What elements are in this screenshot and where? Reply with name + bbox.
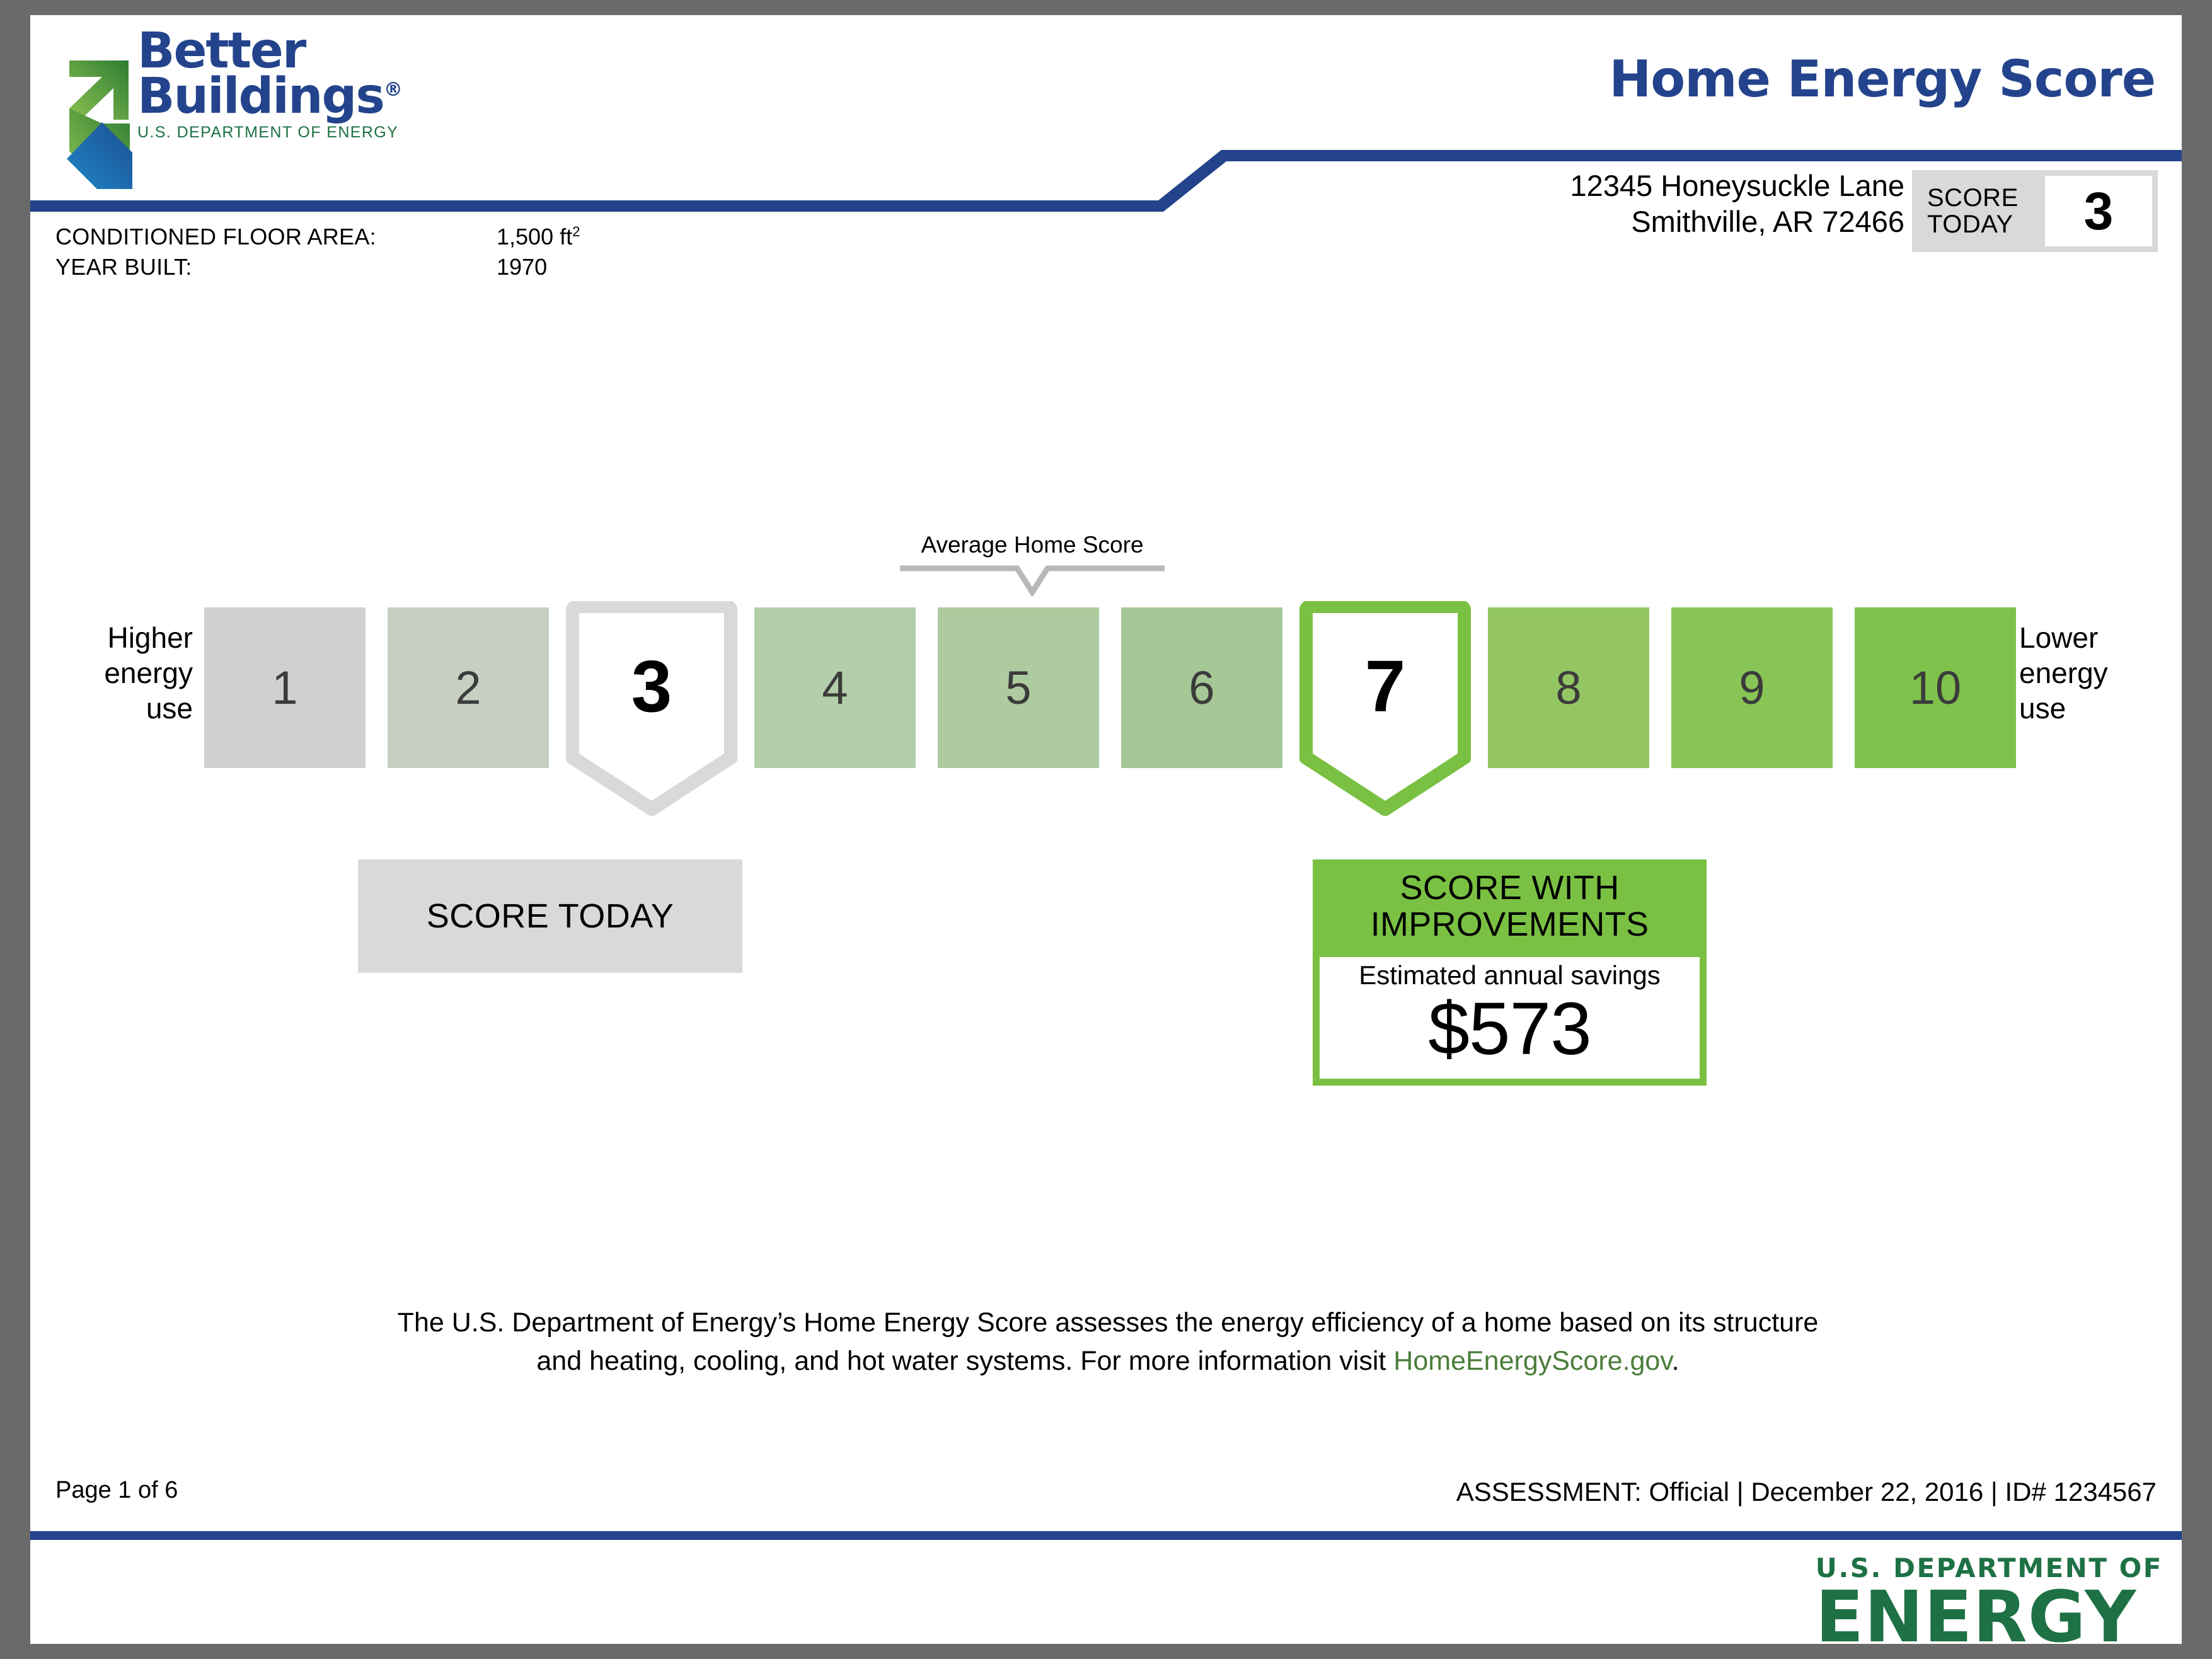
- score-with-improvements-callout: SCORE WITH IMPROVEMENTS Estimated annual…: [1313, 859, 1707, 1086]
- registered-trademark-icon: ®: [384, 79, 401, 101]
- assessment-info: ASSESSMENT: Official | December 22, 2016…: [1456, 1477, 2157, 1507]
- score-cell-1: 1: [204, 607, 366, 768]
- score-cells: 1 2 4 5 6 8 9 10 3 7: [204, 607, 2019, 768]
- average-home-score-bracket-icon: [900, 565, 1165, 596]
- address-line-2: Smithville, AR 72466: [1570, 204, 1904, 239]
- score-today-marker: 3: [566, 601, 737, 822]
- score-cell-8: 8: [1488, 607, 1649, 768]
- property-meta: CONDITIONED FLOOR AREA: 1,500 ft2 YEAR B…: [55, 222, 580, 282]
- estimated-savings-label: Estimated annual savings: [1320, 961, 1700, 990]
- doe-logo: U.S. DEPARTMENT OF ENERGY: [1816, 1553, 2163, 1651]
- floor-area-label: CONDITIONED FLOOR AREA:: [55, 222, 497, 252]
- lower-energy-use-label: Lower energy use: [2019, 620, 2152, 726]
- score-cell-4: 4: [754, 607, 916, 768]
- page-title: Home Energy Score: [1609, 50, 2155, 108]
- estimated-savings-value: $573: [1320, 990, 1700, 1069]
- disclaimer-part-2: .: [1672, 1346, 1679, 1376]
- home-energy-score-link[interactable]: HomeEnergyScore.gov: [1393, 1346, 1671, 1376]
- address-line-1: 12345 Honeysuckle Lane: [1570, 168, 1904, 204]
- score-cell-9: 9: [1671, 607, 1833, 768]
- year-built-value: 1970: [497, 252, 547, 282]
- average-home-score-label: Average Home Score: [900, 532, 1165, 558]
- score-today-chip-label: SCORE TODAY: [1912, 185, 2038, 238]
- logo-line-buildings: Buildings®: [137, 74, 478, 120]
- score-cell-6: 6: [1121, 607, 1282, 768]
- property-address: 12345 Honeysuckle Lane Smithville, AR 72…: [1570, 168, 1904, 240]
- floor-area-row: CONDITIONED FLOOR AREA: 1,500 ft2: [55, 222, 580, 252]
- score-today-chip: SCORE TODAY 3: [1912, 170, 2158, 252]
- year-built-row: YEAR BUILT: 1970: [55, 252, 580, 282]
- energy-score-scale: Average Home Score Higher energy use Low…: [30, 532, 2182, 859]
- floor-area-value: 1,500 ft2: [497, 222, 580, 252]
- score-improved-marker: 7: [1299, 601, 1471, 822]
- score-today-chip-value: 3: [2045, 176, 2152, 246]
- footer-divider: [30, 1531, 2182, 1540]
- report-page: Better Buildings® U.S. DEPARTMENT OF ENE…: [30, 15, 2182, 1644]
- score-with-improvements-header: SCORE WITH IMPROVEMENTS: [1313, 859, 1707, 957]
- doe-logo-line-2: ENERGY: [1816, 1585, 2163, 1651]
- page-number: Page 1 of 6: [55, 1477, 178, 1504]
- score-cell-5: 5: [938, 607, 1099, 768]
- estimated-savings-panel: Estimated annual savings $573: [1313, 957, 1707, 1086]
- disclaimer-text: The U.S. Department of Energy’s Home Ene…: [383, 1304, 1833, 1381]
- higher-energy-use-label: Higher energy use: [60, 620, 193, 726]
- score-today-marker-value: 3: [566, 644, 737, 728]
- score-improved-marker-value: 7: [1299, 644, 1471, 728]
- score-cell-2: 2: [388, 607, 549, 768]
- score-cell-10: 10: [1855, 607, 2016, 768]
- score-today-callout: SCORE TODAY: [358, 859, 742, 973]
- year-built-label: YEAR BUILT:: [55, 252, 497, 282]
